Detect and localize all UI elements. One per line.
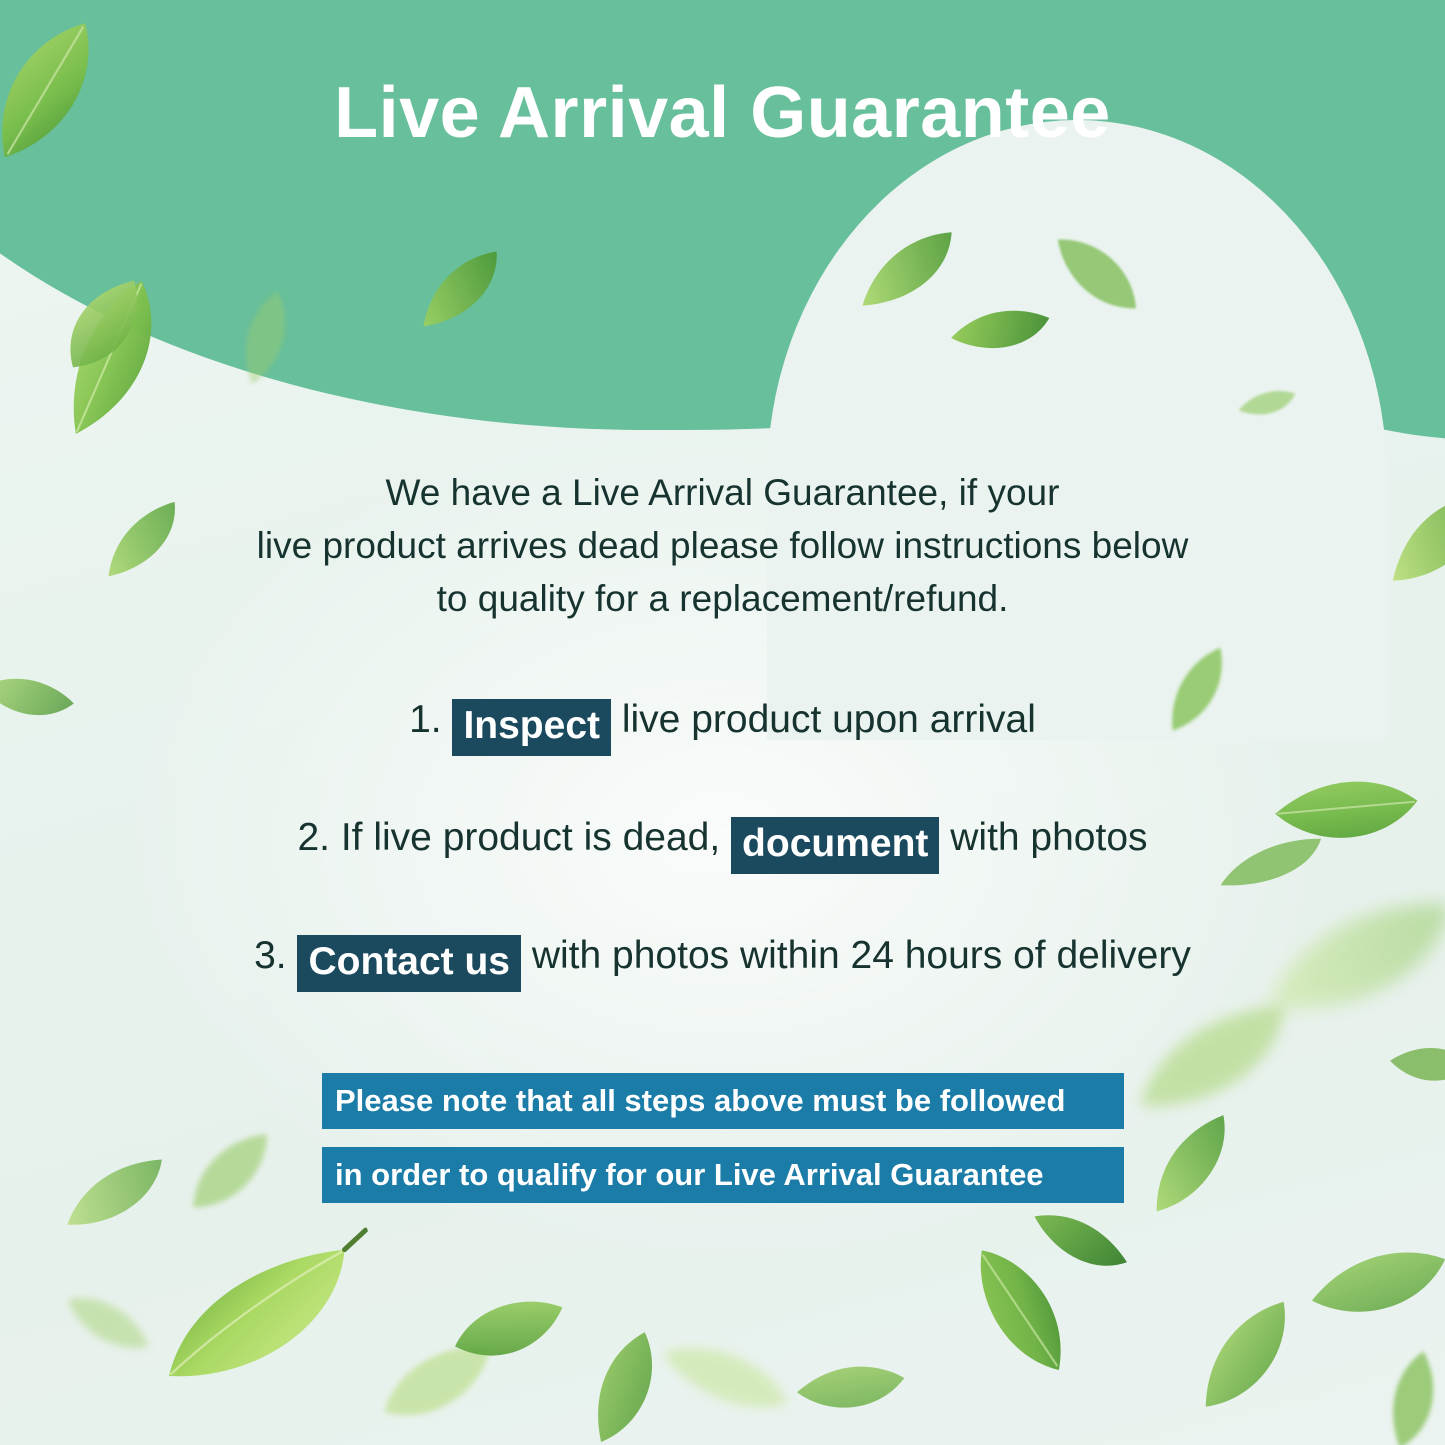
leaf-icon <box>557 1322 693 1445</box>
intro-line-1: We have a Live Arrival Guarantee, if you… <box>0 466 1445 519</box>
step-number: 3. <box>254 934 287 977</box>
live-arrival-guarantee-poster: Live Arrival Guarantee We have a Live Ar… <box>0 0 1445 1445</box>
leaf-icon <box>438 1270 579 1390</box>
leaf-icon <box>1126 1107 1256 1223</box>
step-text-after: with photos <box>950 816 1147 859</box>
leaf-icon <box>1119 993 1306 1126</box>
step-text-after: with photos within 24 hours of delivery <box>532 934 1191 977</box>
note-banner: Please note that all steps above must be… <box>322 1073 1124 1203</box>
step-highlight-contact-us: Contact us <box>297 935 521 992</box>
page-title: Live Arrival Guarantee <box>0 76 1445 152</box>
leaf-icon <box>1383 1020 1445 1108</box>
leaf-icon <box>168 1109 294 1238</box>
intro-line-2: live product arrives dead please follow … <box>0 519 1445 572</box>
leaf-icon <box>52 1272 168 1372</box>
leaf-icon <box>362 1313 515 1445</box>
leaf-icon <box>1173 1292 1319 1422</box>
leaf-icon <box>791 1337 909 1437</box>
steps-list: 1. Inspect live product upon arrival 2. … <box>0 685 1445 992</box>
step-item-1: 1. Inspect live product upon arrival <box>0 685 1445 756</box>
intro-paragraph: We have a Live Arrival Guarantee, if you… <box>0 466 1445 625</box>
step-item-2: 2. If live product is dead, document wit… <box>0 803 1445 874</box>
leaf-icon <box>1357 1344 1445 1445</box>
step-number: 2. <box>297 816 330 859</box>
leaf-icon <box>937 1219 1106 1399</box>
step-highlight-inspect: Inspect <box>452 699 611 756</box>
leaf-icon <box>649 1319 804 1433</box>
step-highlight-document: document <box>731 817 939 874</box>
leaf-icon <box>137 1224 402 1412</box>
step-number: 1. <box>409 698 442 741</box>
note-line-1: Please note that all steps above must be… <box>322 1073 1124 1129</box>
leaf-icon <box>1307 1227 1445 1338</box>
step-text-before: If live product is dead, <box>341 816 720 859</box>
note-line-2: in order to qualify for our Live Arrival… <box>322 1147 1124 1203</box>
intro-line-3: to quality for a replacement/refund. <box>0 572 1445 625</box>
leaf-icon <box>55 1151 176 1236</box>
step-item-3: 3. Contact us with photos within 24 hour… <box>0 921 1445 992</box>
step-text-after: live product upon arrival <box>622 698 1036 741</box>
